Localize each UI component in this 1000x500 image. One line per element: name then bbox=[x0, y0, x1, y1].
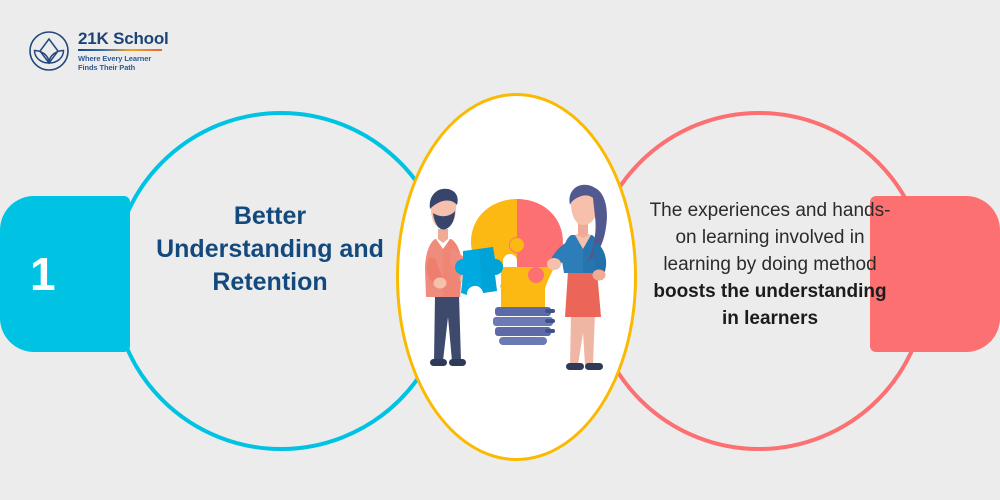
woman-figure bbox=[547, 185, 607, 370]
lotus-circle-icon bbox=[28, 30, 70, 72]
center-capsule bbox=[396, 93, 637, 461]
bulb-base bbox=[493, 307, 555, 345]
brand-gradient-rule bbox=[78, 49, 162, 51]
step-description: The experiences and hands-on learning in… bbox=[648, 198, 892, 333]
step-description-emphasis: boosts the understanding in learners bbox=[653, 281, 886, 329]
brand-tagline-line-1: Where Every Learner bbox=[78, 54, 151, 63]
brand-tagline: Where Every Learner Finds Their Path bbox=[78, 54, 169, 73]
infographic-canvas: 21K School Where Every Learner Finds The… bbox=[0, 0, 1000, 500]
brand-logo: 21K School Where Every Learner Finds The… bbox=[28, 30, 169, 73]
step-heading: Better Understanding and Retention bbox=[150, 200, 390, 299]
brand-tagline-line-2: Finds Their Path bbox=[78, 63, 135, 72]
step-description-lead: The experiences and hands-on learning in… bbox=[650, 200, 891, 275]
step-number: 1 bbox=[30, 251, 56, 297]
brand-logo-text: 21K School Where Every Learner Finds The… bbox=[78, 30, 169, 73]
brand-name: 21K School bbox=[78, 30, 169, 47]
